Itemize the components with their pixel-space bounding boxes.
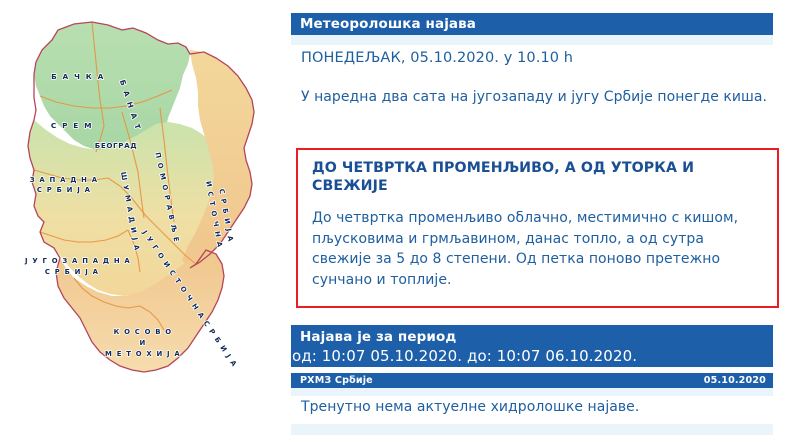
validity-period-bar: Најава је за период од: 10:07 05.10.2020… xyxy=(291,325,773,367)
alert-headline: ДО ЧЕТВРТКА ПРОМЕНЉИВО, А ОД УТОРКА И СВ… xyxy=(312,160,762,195)
map-label-jugozapadna-2: С Р Б И Ј А xyxy=(45,268,99,276)
period-title: Најава је за период xyxy=(291,328,773,346)
alert-body-text: До четвртка променљиво облачно, местимич… xyxy=(312,208,767,290)
map-label-kosovo-1: К О С О В О xyxy=(114,328,173,336)
announcement-panel: Метеоролошка најава ПОНЕДЕЉАК, 05.10.202… xyxy=(291,0,790,442)
tint-divider-bottom xyxy=(291,424,773,435)
map-label-jugozapadna-1: Ј У Г О З А П А Д Н А xyxy=(24,257,131,265)
tint-divider-top xyxy=(291,35,773,45)
tint-divider-middle xyxy=(291,388,773,396)
map-image[interactable]: Б А Ч К А Б А Н А Т С Р Е М БЕОГРАД З А … xyxy=(0,0,291,442)
map-label-beograd: БЕОГРАД xyxy=(95,141,138,150)
weather-announcement-page: Б А Ч К А Б А Н А Т С Р Е М БЕОГРАД З А … xyxy=(0,0,790,442)
serbia-region-map[interactable]: Б А Ч К А Б А Н А Т С Р Е М БЕОГРАД З А … xyxy=(0,0,291,442)
announcement-datetime: ПОНЕДЕЉАК, 05.10.2020. у 10.10 h xyxy=(301,50,771,66)
map-label-kosovo-2: И xyxy=(140,339,147,347)
source-name: РХМЗ Србије xyxy=(300,375,373,386)
map-label-zapadna-2: С Р Б И Ј А xyxy=(37,186,91,194)
map-label-kosovo-3: М Е Т О Х И Ј А xyxy=(105,350,181,358)
source-date: 05.10.2020 xyxy=(704,375,766,386)
meteo-announcement-header: Метеоролошка најава xyxy=(291,13,773,35)
map-label-srem: С Р Е М xyxy=(51,121,93,130)
map-label-zapadna-1: З А П А Д Н А xyxy=(30,176,99,184)
hydrology-status-text: Тренутно нема актуелне хидролошке најаве… xyxy=(301,399,771,415)
short-term-forecast-text: У наредна два сата на југозападу и југу … xyxy=(301,88,777,108)
source-bar: РХМЗ Србије 05.10.2020 xyxy=(291,373,773,388)
map-label-backa: Б А Ч К А xyxy=(51,72,105,81)
weather-alert-box: ДО ЧЕТВРТКА ПРОМЕНЉИВО, А ОД УТОРКА И СВ… xyxy=(296,148,779,308)
period-range: од: 10:07 05.10.2020. до: 10:07 06.10.20… xyxy=(291,346,773,366)
header-title: Метеоролошка најава xyxy=(300,16,476,32)
